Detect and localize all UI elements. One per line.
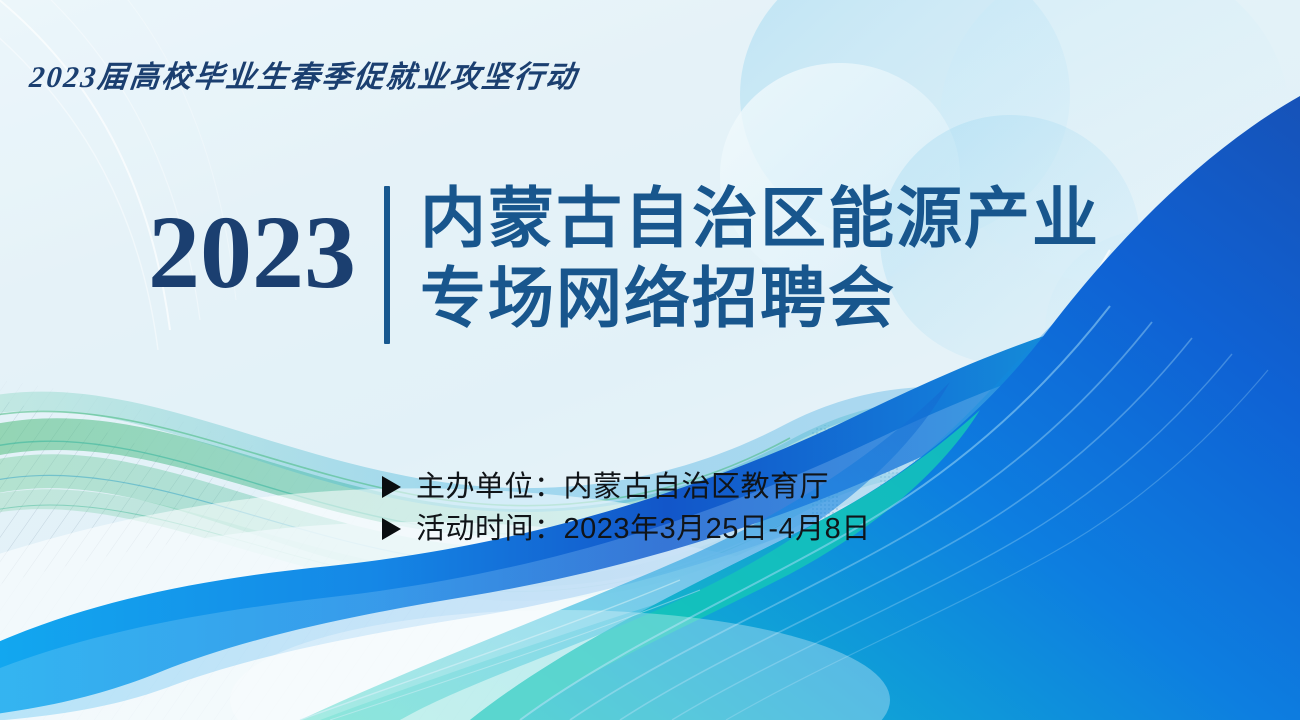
poster-canvas: 2023届高校毕业生春季促就业攻坚行动 2023 内蒙古自治区能源产业 专场网络… xyxy=(0,0,1300,720)
year-label: 2023 xyxy=(148,178,356,328)
event-info-list: 主办单位：内蒙古自治区教育厅 活动时间：2023年3月25日-4月8日 xyxy=(382,466,871,550)
triangle-bullet-icon xyxy=(382,476,401,498)
organizer-text: 主办单位：内蒙古自治区教育厅 xyxy=(416,466,829,508)
diagonal-hatch-upper xyxy=(0,380,600,720)
triangle-bullet-icon xyxy=(382,518,401,540)
main-title: 内蒙古自治区能源产业 专场网络招聘会 xyxy=(420,178,1100,338)
background-decoration-layer xyxy=(0,0,1300,720)
main-title-line-1: 内蒙古自治区能源产业 xyxy=(420,178,1100,258)
info-row-date: 活动时间：2023年3月25日-4月8日 xyxy=(382,508,871,550)
main-title-line-2: 专场网络招聘会 xyxy=(420,258,1100,338)
event-date-text: 活动时间：2023年3月25日-4月8日 xyxy=(416,508,871,550)
info-row-organizer: 主办单位：内蒙古自治区教育厅 xyxy=(382,466,871,508)
title-divider xyxy=(384,186,390,344)
title-block: 2023 内蒙古自治区能源产业 专场网络招聘会 xyxy=(148,178,1100,344)
diagonal-hatch-bottom-left xyxy=(0,380,620,720)
campaign-kicker-text: 2023届高校毕业生春季促就业攻坚行动 xyxy=(28,52,581,96)
